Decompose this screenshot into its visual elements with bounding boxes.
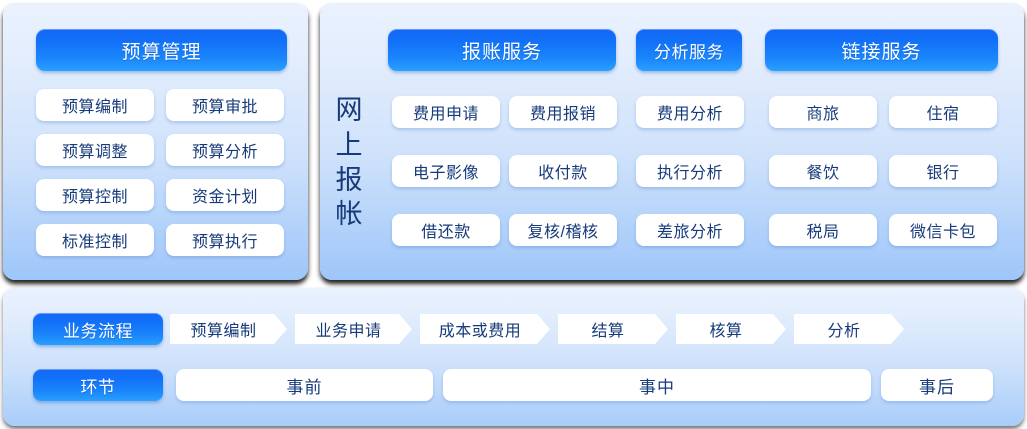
service-group-header-analysis[interactable]: 分析服务 — [636, 29, 742, 71]
service-group-header-link[interactable]: 链接服务 — [765, 29, 998, 71]
service-chip-travel-analysis[interactable]: 差旅分析 — [636, 214, 744, 246]
service-chip-receipt-payment[interactable]: 收付款 — [509, 155, 617, 187]
flow-stage-before[interactable]: 事前 — [176, 369, 433, 401]
flow-step-0[interactable]: 预算编制 — [170, 314, 287, 344]
business-flow-panel — [3, 288, 1024, 426]
service-chip-expense-application[interactable]: 费用申请 — [392, 96, 500, 128]
service-chip-accommodation[interactable]: 住宿 — [889, 96, 997, 128]
service-chip-bank[interactable]: 银行 — [889, 155, 997, 187]
budget-item-7[interactable]: 预算执行 — [166, 224, 284, 256]
side-label-char-0: 网 — [336, 93, 363, 128]
flow-step-1[interactable]: 业务申请 — [295, 314, 412, 344]
budget-item-5[interactable]: 资金计划 — [166, 179, 284, 211]
service-chip-execution-analysis[interactable]: 执行分析 — [636, 155, 744, 187]
service-chip-tax-bureau[interactable]: 税局 — [769, 214, 877, 246]
service-chip-electronic-image[interactable]: 电子影像 — [392, 155, 500, 187]
flow-row-label-stage[interactable]: 环节 — [33, 369, 163, 401]
diagram-canvas: 预算管理 预算编制 预算审批 预算调整 预算分析 预算控制 资金计划 标准控制 … — [0, 0, 1027, 429]
service-group-header-reimbursement[interactable]: 报账服务 — [388, 29, 616, 71]
flow-step-4[interactable]: 核算 — [676, 314, 786, 344]
service-chip-wechat-card-package[interactable]: 微信卡包 — [889, 214, 997, 246]
budget-item-2[interactable]: 预算调整 — [36, 134, 154, 166]
budget-item-6[interactable]: 标准控制 — [36, 224, 154, 256]
online-reimbursement-side-label: 网 上 报 帐 — [329, 70, 369, 255]
service-chip-review-audit[interactable]: 复核/稽核 — [509, 214, 617, 246]
side-label-char-2: 报 — [336, 163, 363, 198]
flow-stage-during[interactable]: 事中 — [443, 369, 871, 401]
service-chip-business-travel[interactable]: 商旅 — [769, 96, 877, 128]
budget-management-panel: 预算管理 预算编制 预算审批 预算调整 预算分析 预算控制 资金计划 标准控制 … — [3, 3, 308, 280]
service-chip-loan-repayment[interactable]: 借还款 — [392, 214, 500, 246]
flow-step-5[interactable]: 分析 — [794, 314, 904, 344]
flow-step-2[interactable]: 成本或费用 — [420, 314, 550, 344]
budget-item-0[interactable]: 预算编制 — [36, 89, 154, 121]
budget-panel-header[interactable]: 预算管理 — [36, 29, 287, 71]
service-chip-expense-reimbursement[interactable]: 费用报销 — [509, 96, 617, 128]
budget-item-4[interactable]: 预算控制 — [36, 179, 154, 211]
service-chip-expense-analysis[interactable]: 费用分析 — [636, 96, 744, 128]
service-chip-catering[interactable]: 餐饮 — [769, 155, 877, 187]
budget-item-3[interactable]: 预算分析 — [166, 134, 284, 166]
flow-step-3[interactable]: 结算 — [558, 314, 668, 344]
side-label-char-1: 上 — [336, 128, 363, 163]
flow-stage-after[interactable]: 事后 — [881, 369, 993, 401]
side-label-char-3: 帐 — [336, 197, 363, 232]
budget-item-1[interactable]: 预算审批 — [166, 89, 284, 121]
flow-row-label-process[interactable]: 业务流程 — [33, 313, 163, 345]
